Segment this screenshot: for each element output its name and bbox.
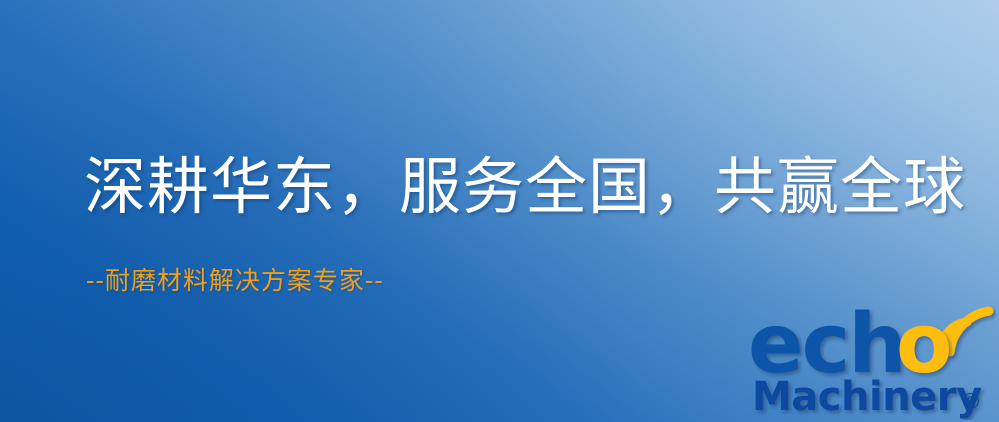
- echo-machinery-logo[interactable]: ech o Machinery ®: [748, 296, 996, 420]
- banner-subtitle: --耐磨材料解决方案专家--: [86, 266, 384, 296]
- logo-trademark-icon: ®: [960, 390, 982, 415]
- hero-banner: 深耕华东，服务全国，共赢全球 --耐磨材料解决方案专家-- ech o Mach…: [0, 0, 999, 422]
- logo-tagline: Machinery: [752, 374, 982, 420]
- banner-headline: 深耕华东，服务全国，共赢全球: [84, 152, 966, 221]
